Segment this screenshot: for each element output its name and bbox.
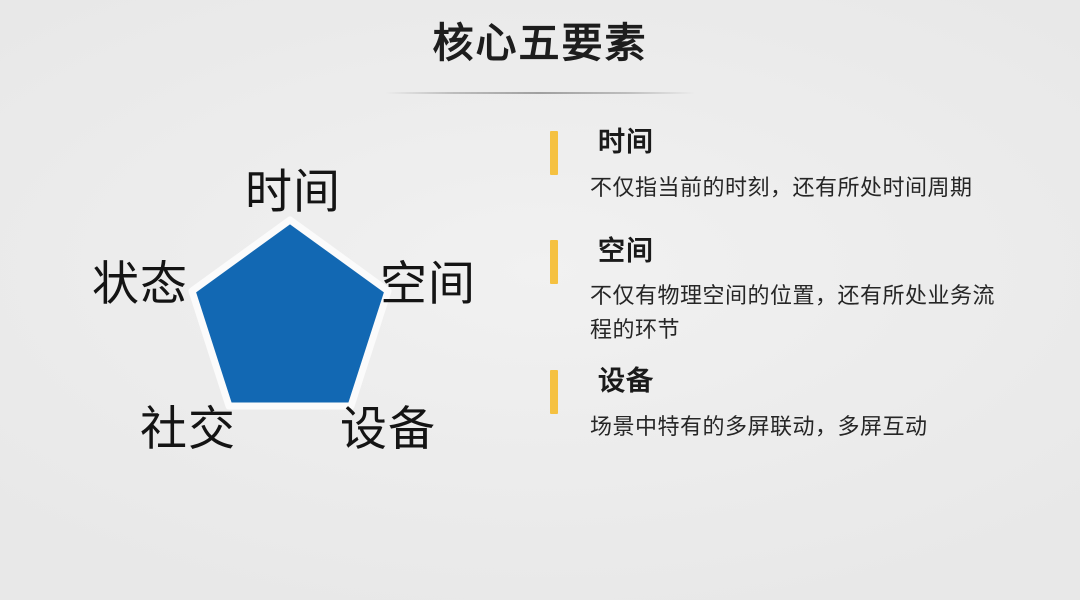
pentagon-node-time: 时间	[245, 168, 341, 215]
pentagon-diagram: 时间 空间 设备 社交 状态	[60, 140, 530, 480]
pentagon-node-device: 设备	[340, 405, 436, 452]
pentagon-node-state: 状态	[92, 260, 188, 307]
pentagon-node-social: 社交	[140, 405, 236, 452]
list-item: 空间 不仅有物理空间的位置，还有所处业务流程的环节	[548, 231, 1048, 348]
list-item-description: 场景中特有的多屏联动，多屏互动	[590, 410, 1015, 444]
page-title: 核心五要素	[0, 20, 1080, 67]
list-item: 时间 不仅指当前的时刻，还有所处时间周期	[548, 122, 1048, 205]
slide-canvas: 核心五要素 时间 空间 设备 社交 状态 时间 不仅指当前的时刻，还有所处时间周…	[0, 0, 1080, 600]
list-item-description: 不仅指当前的时刻，还有所处时间周期	[590, 171, 1015, 205]
title-divider	[385, 92, 695, 94]
accent-bar	[550, 240, 558, 284]
accent-bar	[550, 370, 558, 414]
pentagon-node-space: 空间	[380, 260, 476, 307]
list-item-description: 不仅有物理空间的位置，还有所处业务流程的环节	[590, 279, 1015, 347]
list-item: 设备 场景中特有的多屏联动，多屏互动	[548, 361, 1048, 444]
list-item-heading: 空间	[598, 231, 1048, 272]
elements-list: 时间 不仅指当前的时刻，还有所处时间周期 空间 不仅有物理空间的位置，还有所处业…	[548, 122, 1048, 464]
list-item-heading: 设备	[598, 361, 1048, 402]
accent-bar	[550, 131, 558, 175]
list-item-heading: 时间	[598, 122, 1048, 163]
